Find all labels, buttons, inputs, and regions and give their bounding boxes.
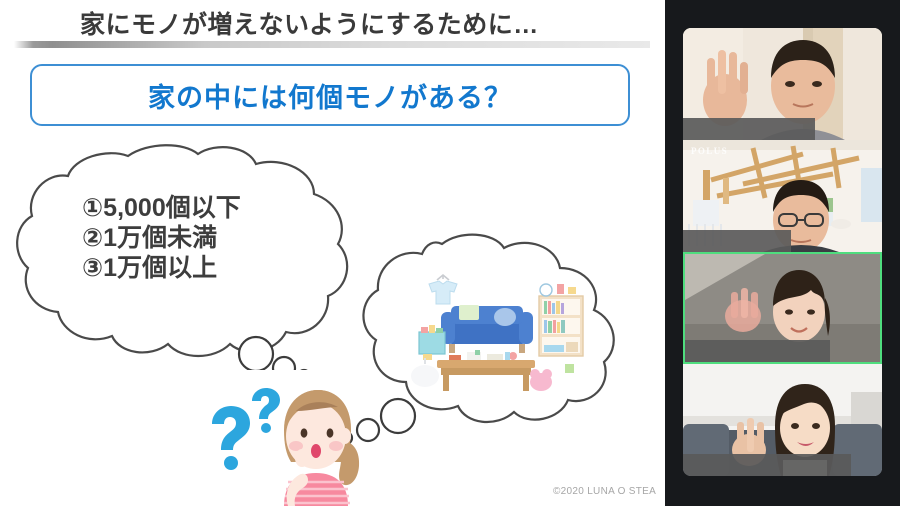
toy-box-icon [419,325,445,360]
options-list: ①5,000個以下 ②1万個未満 ③1万個以上 [82,193,241,283]
title-divider [14,41,650,48]
option-2: ②1万個未満 [82,223,241,253]
question-box-text: 家の中には何個モノがある？ [148,76,512,115]
shirt-on-hanger-icon [429,275,457,304]
video-tile-participant-4[interactable] [683,364,882,476]
participant-2-name-redaction [683,230,791,252]
question-box: 家の中には何個モノがある？ [30,64,630,126]
presentation-slide: 家にモノが増えないようにするために… 家の中には何個モノがある？ ①5,000個… [0,0,665,506]
eye-right [327,428,334,437]
video-tile-participant-3[interactable] [683,252,882,364]
page-title: 家にモノが増えないようにするために… [80,5,539,41]
eye-left [301,428,308,437]
question-mark-small-icon [252,388,280,433]
video-tile-participant-2[interactable]: POLUS [683,140,882,252]
green-item-icon [565,364,574,373]
participant-1-name-redaction [683,118,815,140]
hand [295,449,309,467]
video-tile-participant-1[interactable] [683,28,882,140]
participant-1-head [771,40,835,124]
video-participants-panel: POLUS [665,0,900,506]
living-room-illustration [405,272,600,397]
copyright-text: ©2020 LUNA O STEA [553,486,656,497]
participant-4-name-redaction [683,454,851,476]
shelf-top-items-icon [540,284,576,296]
bookshelf-icon [539,296,583,356]
lamp-icon [411,358,439,387]
option-3: ③1万個以上 [82,253,241,283]
participant-3-name-redaction [685,340,830,362]
mouth [311,444,321,458]
thinking-woman-illustration [196,378,366,506]
option-1: ①5,000個以下 [82,193,241,223]
slide-screenshot: 家にモノが増えないようにするために… 家の中には何個モノがある？ ①5,000個… [0,0,900,506]
question-mark-large-icon [212,406,250,470]
sofa-icon [441,305,533,353]
plush-toy-icon [530,369,552,391]
coffee-table-icon [437,350,535,391]
polus-watermark: POLUS [691,146,728,156]
